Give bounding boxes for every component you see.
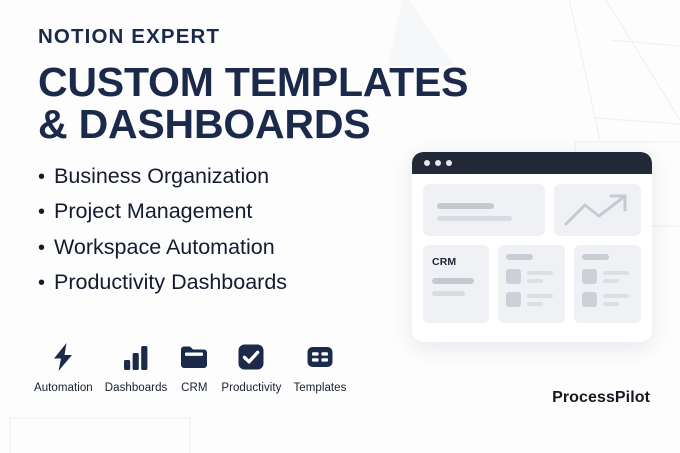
- table-rows-icon: [306, 340, 334, 374]
- icon-label: Automation: [34, 382, 93, 394]
- list-item-label: Business Organization: [54, 166, 269, 188]
- list-item-line-2: [527, 302, 543, 306]
- list-item-text: [527, 292, 557, 306]
- browser-mockup: CRM: [412, 152, 652, 342]
- list-item-thumbnail: [506, 269, 521, 284]
- headline-line-2: & DASHBOARDS: [38, 103, 418, 145]
- list-item-line-2: [527, 279, 543, 283]
- list-item: • Workspace Automation: [38, 237, 418, 259]
- icon-item-templates: Templates: [293, 340, 346, 394]
- crm-bar-secondary: [432, 291, 465, 296]
- page-title: CUSTOM TEMPLATES & DASHBOARDS: [38, 61, 418, 145]
- icon-label: CRM: [181, 382, 207, 394]
- headline-line-1: CUSTOM TEMPLATES: [38, 59, 468, 105]
- bullet-icon: •: [38, 202, 45, 222]
- list-item-line-1: [603, 271, 629, 275]
- icon-item-automation: Automation: [34, 340, 93, 394]
- bullet-icon: •: [38, 273, 45, 293]
- list-item-row: [582, 292, 633, 307]
- list-item-thumbnail: [582, 269, 597, 284]
- list-item-label: Project Management: [54, 201, 252, 223]
- list-item-line-2: [603, 302, 619, 306]
- bullet-icon: •: [38, 238, 45, 258]
- list-item: • Business Organization: [38, 166, 418, 188]
- checkbox-check-icon: [237, 340, 265, 374]
- list-card-header-bar: [506, 254, 533, 260]
- list-item-label: Productivity Dashboards: [54, 272, 287, 294]
- icon-label: Dashboards: [105, 382, 168, 394]
- list-item-thumbnail: [506, 292, 521, 307]
- list-item-line-1: [603, 294, 629, 298]
- banner-root: NOTION EXPERT CUSTOM TEMPLATES & DASHBOA…: [0, 0, 680, 453]
- list-item: • Productivity Dashboards: [38, 272, 418, 294]
- icon-label: Templates: [293, 382, 346, 394]
- list-item-text: [603, 292, 633, 306]
- crm-card-title: CRM: [432, 256, 480, 268]
- list-item-row: [582, 269, 633, 284]
- brand-name: ProcessPilot: [552, 389, 650, 407]
- feature-list: • Business Organization • Project Manage…: [38, 166, 418, 294]
- window-close-dot-icon: [424, 160, 430, 166]
- icon-item-crm: CRM: [179, 340, 209, 394]
- summary-card: [423, 184, 545, 236]
- list-item-row: [506, 269, 557, 284]
- list-item-line-1: [527, 271, 553, 275]
- icon-item-dashboards: Dashboards: [105, 340, 168, 394]
- list-item-label: Workspace Automation: [54, 237, 275, 259]
- list-item-thumbnail: [582, 292, 597, 307]
- mockup-body: CRM: [412, 174, 652, 334]
- lightning-bolt-icon: [50, 340, 76, 374]
- crm-bar-primary: [432, 278, 474, 284]
- list-item-text: [527, 269, 557, 283]
- icon-label: Productivity: [221, 382, 281, 394]
- list-card-1: [498, 245, 565, 323]
- list-item-line-2: [603, 279, 619, 283]
- folder-icon: [179, 340, 209, 374]
- hero-text-column: NOTION EXPERT CUSTOM TEMPLATES & DASHBOA…: [38, 26, 418, 308]
- crm-card: CRM: [423, 245, 489, 323]
- list-item-row: [506, 292, 557, 307]
- window-minimize-dot-icon: [435, 160, 441, 166]
- eyebrow-text: NOTION EXPERT: [38, 26, 418, 49]
- mockup-row-bottom: CRM: [423, 245, 641, 323]
- list-card-2: [574, 245, 641, 323]
- bullet-icon: •: [38, 167, 45, 187]
- list-item-line-1: [527, 294, 553, 298]
- feature-icon-row: Automation Dashboards CRM: [34, 340, 346, 394]
- list-card-header-bar: [582, 254, 609, 260]
- list-item: • Project Management: [38, 201, 418, 223]
- bar-chart-icon: [122, 340, 150, 374]
- mockup-row-top: [423, 184, 641, 236]
- list-item-text: [603, 269, 633, 283]
- summary-bar-secondary: [437, 216, 512, 221]
- trend-up-arrow-icon: [561, 190, 635, 230]
- window-maximize-dot-icon: [446, 160, 452, 166]
- trend-chart-card: [554, 184, 641, 236]
- mockup-titlebar: [412, 152, 652, 174]
- icon-item-productivity: Productivity: [221, 340, 281, 394]
- summary-bar-primary: [437, 203, 494, 209]
